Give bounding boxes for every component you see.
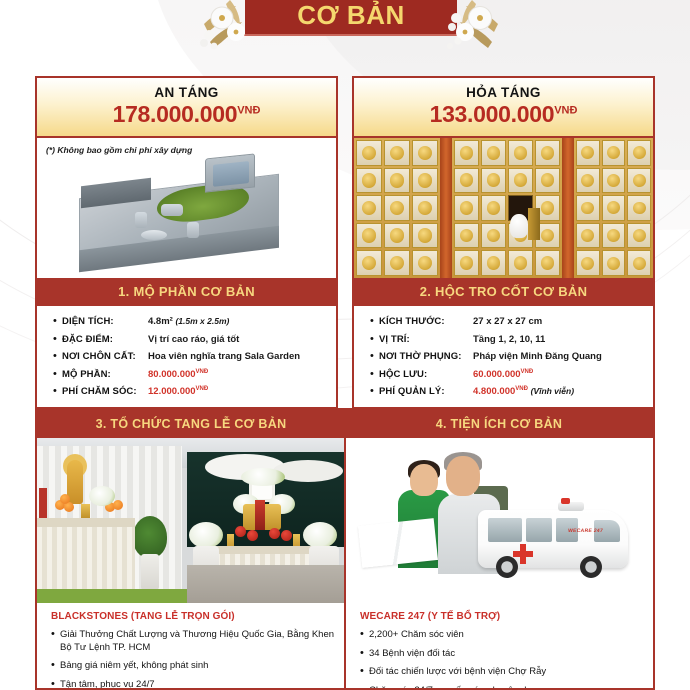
- list-item: • 2,200+ Chăm sóc viên: [360, 629, 643, 642]
- list-item-text: Đối tác chiến lược với bệnh viện Chợ Rẫy: [369, 666, 546, 679]
- spec-value: 4.800.000VNĐ (Vĩnh viễn): [473, 386, 574, 397]
- spec-value: 4.8m² (1.5m x 2.5m): [148, 316, 229, 327]
- spec-value-text: 12.000.000: [148, 386, 196, 397]
- spec-value-sub: (Vĩnh viễn): [531, 386, 574, 396]
- bullet-icon: •: [53, 334, 62, 345]
- spec-row: • ĐẶC ĐIỂM: Vị trí cao ráo, giá tốt: [53, 334, 328, 345]
- price-amount: 133.000.000VNĐ: [354, 101, 653, 128]
- bullet-icon: •: [370, 351, 379, 362]
- section-title-to-chuc-tang-le: 3. TỔ CHỨC TANG LỄ CƠ BẢN: [37, 410, 345, 438]
- flower-decoration-left: [196, 0, 266, 54]
- spec-label: NƠI THỜ PHỤNG:: [379, 351, 473, 362]
- funeral-ceremony-photo: [37, 438, 344, 603]
- spec-value: 60.000.000VNĐ: [473, 369, 533, 380]
- list-item: • Đối tác chiến lược với bệnh viện Chợ R…: [360, 666, 643, 679]
- spec-value: 27 x 27 x 27 cm: [473, 316, 542, 327]
- section-title-hoc-tro-cot: 2. HỘC TRO CỐT CƠ BẢN: [354, 278, 653, 306]
- list-item-text: Tận tâm, phục vụ 24/7: [60, 679, 155, 690]
- bottom-panel: 3. TỔ CHỨC TANG LỄ CƠ BẢN 4. TIỆN ÍCH CƠ…: [35, 408, 655, 690]
- bullet-icon: •: [370, 369, 379, 380]
- spec-label: MỘ PHẦN:: [62, 369, 148, 380]
- wecare-medical-photo: WECARE 247: [346, 438, 653, 603]
- wecare-title: WECARE 247 (Y TẾ BỔ TRỢ): [360, 611, 643, 622]
- spec-row: • DIỆN TÍCH: 4.8m² (1.5m x 2.5m): [53, 316, 328, 327]
- bottom-headers: 3. TỔ CHỨC TANG LỄ CƠ BẢN 4. TIỆN ÍCH CƠ…: [37, 410, 653, 438]
- price-number: 133.000.000: [430, 101, 555, 127]
- bullet-icon: •: [51, 629, 60, 654]
- spec-value: Tầng 1, 2, 10, 11: [473, 334, 545, 345]
- spec-row: • PHÍ CHĂM SÓC: 12.000.000VNĐ: [53, 386, 328, 397]
- price-number: 178.000.000: [113, 101, 238, 127]
- header-banner: CƠ BẢN: [0, 0, 690, 40]
- spec-label: PHÍ CHĂM SÓC:: [62, 386, 148, 397]
- spec-value-currency: VNĐ: [196, 369, 209, 375]
- bullet-icon: •: [370, 334, 379, 345]
- spec-row: • HỘC LƯU: 60.000.000VNĐ: [370, 369, 645, 380]
- price-header-hoa-tang: HỎA TÁNG 133.000.000VNĐ: [354, 78, 653, 138]
- spec-value-currency: VNĐ: [521, 369, 534, 375]
- bullet-icon: •: [360, 648, 369, 661]
- price-currency: VNĐ: [554, 104, 577, 116]
- blackstones-list: BLACKSTONES (TANG LỄ TRỌN GÓI) • Giải Th…: [37, 603, 344, 690]
- bullet-icon: •: [360, 666, 369, 679]
- spec-value-text: 80.000.000: [148, 369, 196, 380]
- price-title: HỎA TÁNG: [354, 85, 653, 100]
- list-item: • Bảng giá niêm yết, không phát sinh: [51, 660, 334, 673]
- price-header-an-tang: AN TÁNG 178.000.000VNĐ: [37, 78, 336, 138]
- spec-value: 80.000.000VNĐ: [148, 369, 208, 380]
- spec-row: • NƠI CHÔN CẤT: Hoa viên nghĩa trang Sal…: [53, 351, 328, 362]
- spec-value-currency: VNĐ: [196, 386, 209, 392]
- section-title-tien-ich: 4. TIỆN ÍCH CƠ BẢN: [345, 410, 653, 438]
- list-item-text: Chăm sóc 24/7, xe cấp cứu chuyên dụng: [369, 685, 542, 690]
- bottom-column-blackstones: BLACKSTONES (TANG LỄ TRỌN GÓI) • Giải Th…: [37, 438, 346, 688]
- list-item-text: Bảng giá niêm yết, không phát sinh: [60, 660, 208, 673]
- funeral-hall-illustration: [37, 438, 344, 603]
- spec-label: NƠI CHÔN CẤT:: [62, 351, 148, 362]
- columbarium-photo: [354, 138, 653, 278]
- bullet-icon: •: [53, 369, 62, 380]
- flower-decoration-right: [432, 0, 510, 58]
- spec-value-text: 60.000.000: [473, 369, 521, 380]
- section-title-mo-phan: 1. MỘ PHẦN CƠ BẢN: [37, 278, 336, 306]
- spec-row: • KÍCH THƯỚC: 27 x 27 x 27 cm: [370, 316, 645, 327]
- list-item-text: 2,200+ Chăm sóc viên: [369, 629, 464, 642]
- ambulance-text: WECARE 247: [568, 528, 604, 534]
- spec-row: • NƠI THỜ PHỤNG: Pháp viện Minh Đăng Qua…: [370, 351, 645, 362]
- bullet-icon: •: [360, 629, 369, 642]
- banner-underline: [242, 34, 460, 36]
- spec-label: HỘC LƯU:: [379, 369, 473, 380]
- spec-value-text: 4.8m²: [148, 316, 173, 327]
- spec-label: PHÍ QUẢN LÝ:: [379, 386, 473, 397]
- grave-monument-photo: (*) Không bao gồm chi phí xây dựng: [37, 138, 336, 278]
- spec-value: 12.000.000VNĐ: [148, 386, 208, 397]
- spec-row: • PHÍ QUẢN LÝ: 4.800.000VNĐ (Vĩnh viễn): [370, 386, 645, 397]
- spec-label: ĐẶC ĐIỂM:: [62, 334, 148, 345]
- bullet-icon: •: [370, 386, 379, 397]
- spec-value: Pháp viện Minh Đăng Quang: [473, 351, 602, 362]
- list-item: • Tận tâm, phục vụ 24/7: [51, 679, 334, 690]
- blackstones-title: BLACKSTONES (TANG LỄ TRỌN GÓI): [51, 611, 334, 622]
- bullet-icon: •: [370, 316, 379, 327]
- bullet-icon: •: [53, 386, 62, 397]
- list-item: • Giải Thưởng Chất Lượng và Thương Hiệu …: [51, 629, 334, 654]
- bottom-body: BLACKSTONES (TANG LỄ TRỌN GÓI) • Giải Th…: [37, 438, 653, 688]
- banner-plate: CƠ BẢN: [245, 0, 457, 34]
- price-cards-row: AN TÁNG 178.000.000VNĐ (*) Không bao gồm…: [0, 76, 690, 409]
- bottom-column-wecare: WECARE 247 WECARE 247 (Y TẾ BỔ TRỢ) • 2,…: [346, 438, 653, 688]
- card-an-tang[interactable]: AN TÁNG 178.000.000VNĐ (*) Không bao gồm…: [35, 76, 338, 409]
- banner-title: CƠ BẢN: [297, 0, 405, 31]
- spec-label: DIỆN TÍCH:: [62, 316, 148, 327]
- columbarium-illustration: [354, 138, 653, 278]
- spec-list-hoc-tro-cot: • KÍCH THƯỚC: 27 x 27 x 27 cm • VỊ TRÍ: …: [354, 306, 653, 407]
- bullet-icon: •: [53, 316, 62, 327]
- spec-label: VỊ TRÍ:: [379, 334, 473, 345]
- price-title: AN TÁNG: [37, 85, 336, 100]
- spec-value: Hoa viên nghĩa trang Sala Garden: [148, 351, 300, 362]
- spec-value-sub: (1.5m x 2.5m): [175, 316, 229, 326]
- spec-value-currency: VNĐ: [515, 386, 528, 392]
- bullet-icon: •: [51, 679, 60, 690]
- bullet-icon: •: [51, 660, 60, 673]
- price-currency: VNĐ: [237, 104, 260, 116]
- list-item-text: 34 Bệnh viện đối tác: [369, 648, 455, 661]
- spec-row: • MỘ PHẦN: 80.000.000VNĐ: [53, 369, 328, 380]
- spec-list-mo-phan: • DIỆN TÍCH: 4.8m² (1.5m x 2.5m) • ĐẶC Đ…: [37, 306, 336, 407]
- spec-row: • VỊ TRÍ: Tầng 1, 2, 10, 11: [370, 334, 645, 345]
- spec-value-text: 4.800.000: [473, 386, 515, 397]
- grave-illustration: [37, 138, 336, 278]
- wecare-list: WECARE 247 (Y TẾ BỔ TRỢ) • 2,200+ Chăm s…: [346, 603, 653, 690]
- price-note: (*) Không bao gồm chi phí xây dựng: [46, 145, 192, 155]
- spec-value: Vị trí cao ráo, giá tốt: [148, 334, 239, 345]
- list-item-text: Giải Thưởng Chất Lượng và Thương Hiệu Qu…: [60, 629, 334, 654]
- spec-label: KÍCH THƯỚC:: [379, 316, 473, 327]
- list-item: • 34 Bệnh viện đối tác: [360, 648, 643, 661]
- bullet-icon: •: [53, 351, 62, 362]
- price-amount: 178.000.000VNĐ: [37, 101, 336, 128]
- wecare-illustration: WECARE 247: [346, 438, 653, 603]
- card-hoa-tang[interactable]: HỎA TÁNG 133.000.000VNĐ: [352, 76, 655, 409]
- bullet-icon: •: [360, 685, 369, 690]
- list-item: • Chăm sóc 24/7, xe cấp cứu chuyên dụng: [360, 685, 643, 690]
